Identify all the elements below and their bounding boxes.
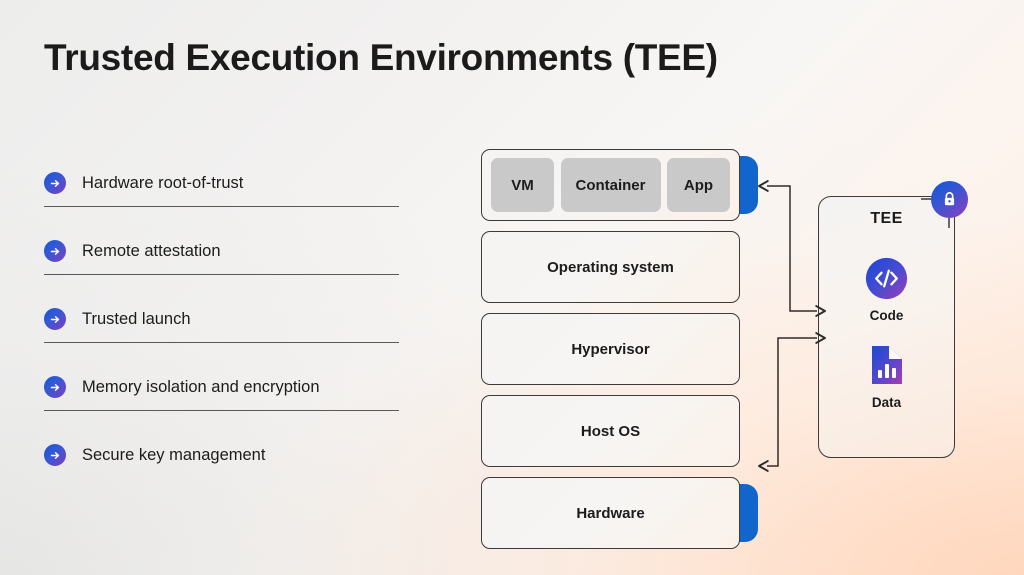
list-item-label: Secure key management bbox=[82, 446, 265, 465]
arrow-right-circle-icon bbox=[44, 308, 66, 330]
tee-item-code[interactable]: Code bbox=[819, 256, 954, 323]
stack-layer-hardware-label: Hardware bbox=[576, 505, 644, 522]
code-icon bbox=[819, 256, 954, 300]
spacer bbox=[44, 275, 399, 296]
list-item-label: Trusted launch bbox=[82, 310, 191, 329]
stack-layer-hypervisor[interactable]: Hypervisor bbox=[481, 313, 740, 385]
workloads-tee-tab bbox=[728, 156, 758, 214]
workload-vm[interactable]: VM bbox=[491, 158, 554, 212]
list-item-label: Memory isolation and encryption bbox=[82, 378, 320, 397]
arrow-right-circle-icon bbox=[44, 444, 66, 466]
tee-heading: TEE bbox=[819, 210, 954, 228]
spacer bbox=[44, 343, 399, 364]
hardware-tee-tab bbox=[728, 484, 758, 542]
key-features-list: Hardware root-of-trust Remote attestatio… bbox=[44, 160, 399, 478]
list-item[interactable]: Trusted launch bbox=[44, 296, 399, 342]
list-item-label: Remote attestation bbox=[82, 242, 221, 261]
platform-stack-diagram: VM Container App Operating system Hyperv… bbox=[481, 149, 740, 559]
tee-item-data[interactable]: Data bbox=[819, 343, 954, 410]
data-document-icon bbox=[819, 343, 954, 387]
lock-icon bbox=[931, 181, 968, 218]
workload-container[interactable]: Container bbox=[561, 158, 661, 212]
workload-app[interactable]: App bbox=[667, 158, 730, 212]
list-item[interactable]: Secure key management bbox=[44, 432, 399, 478]
page-title: Trusted Execution Environments (TEE) bbox=[44, 37, 718, 79]
stack-layer-workloads[interactable]: VM Container App bbox=[481, 149, 740, 221]
stack-layer-hardware[interactable]: Hardware bbox=[481, 477, 740, 549]
tee-panel[interactable]: TEE Code bbox=[818, 196, 955, 458]
stack-layer-host-os[interactable]: Host OS bbox=[481, 395, 740, 467]
list-item[interactable]: Hardware root-of-trust bbox=[44, 160, 399, 206]
list-item[interactable]: Remote attestation bbox=[44, 228, 399, 274]
spacer bbox=[44, 207, 399, 228]
tee-item-code-label: Code bbox=[819, 308, 954, 323]
tee-item-data-label: Data bbox=[819, 395, 954, 410]
arrow-right-circle-icon bbox=[44, 240, 66, 262]
connector-hardware-to-tee bbox=[767, 338, 817, 466]
arrow-right-circle-icon bbox=[44, 376, 66, 398]
arrow-right-circle-icon bbox=[44, 172, 66, 194]
list-item-label: Hardware root-of-trust bbox=[82, 174, 243, 193]
spacer bbox=[44, 411, 399, 432]
stack-layer-operating-system[interactable]: Operating system bbox=[481, 231, 740, 303]
connector-workloads-to-tee bbox=[767, 186, 817, 311]
list-item[interactable]: Memory isolation and encryption bbox=[44, 364, 399, 410]
